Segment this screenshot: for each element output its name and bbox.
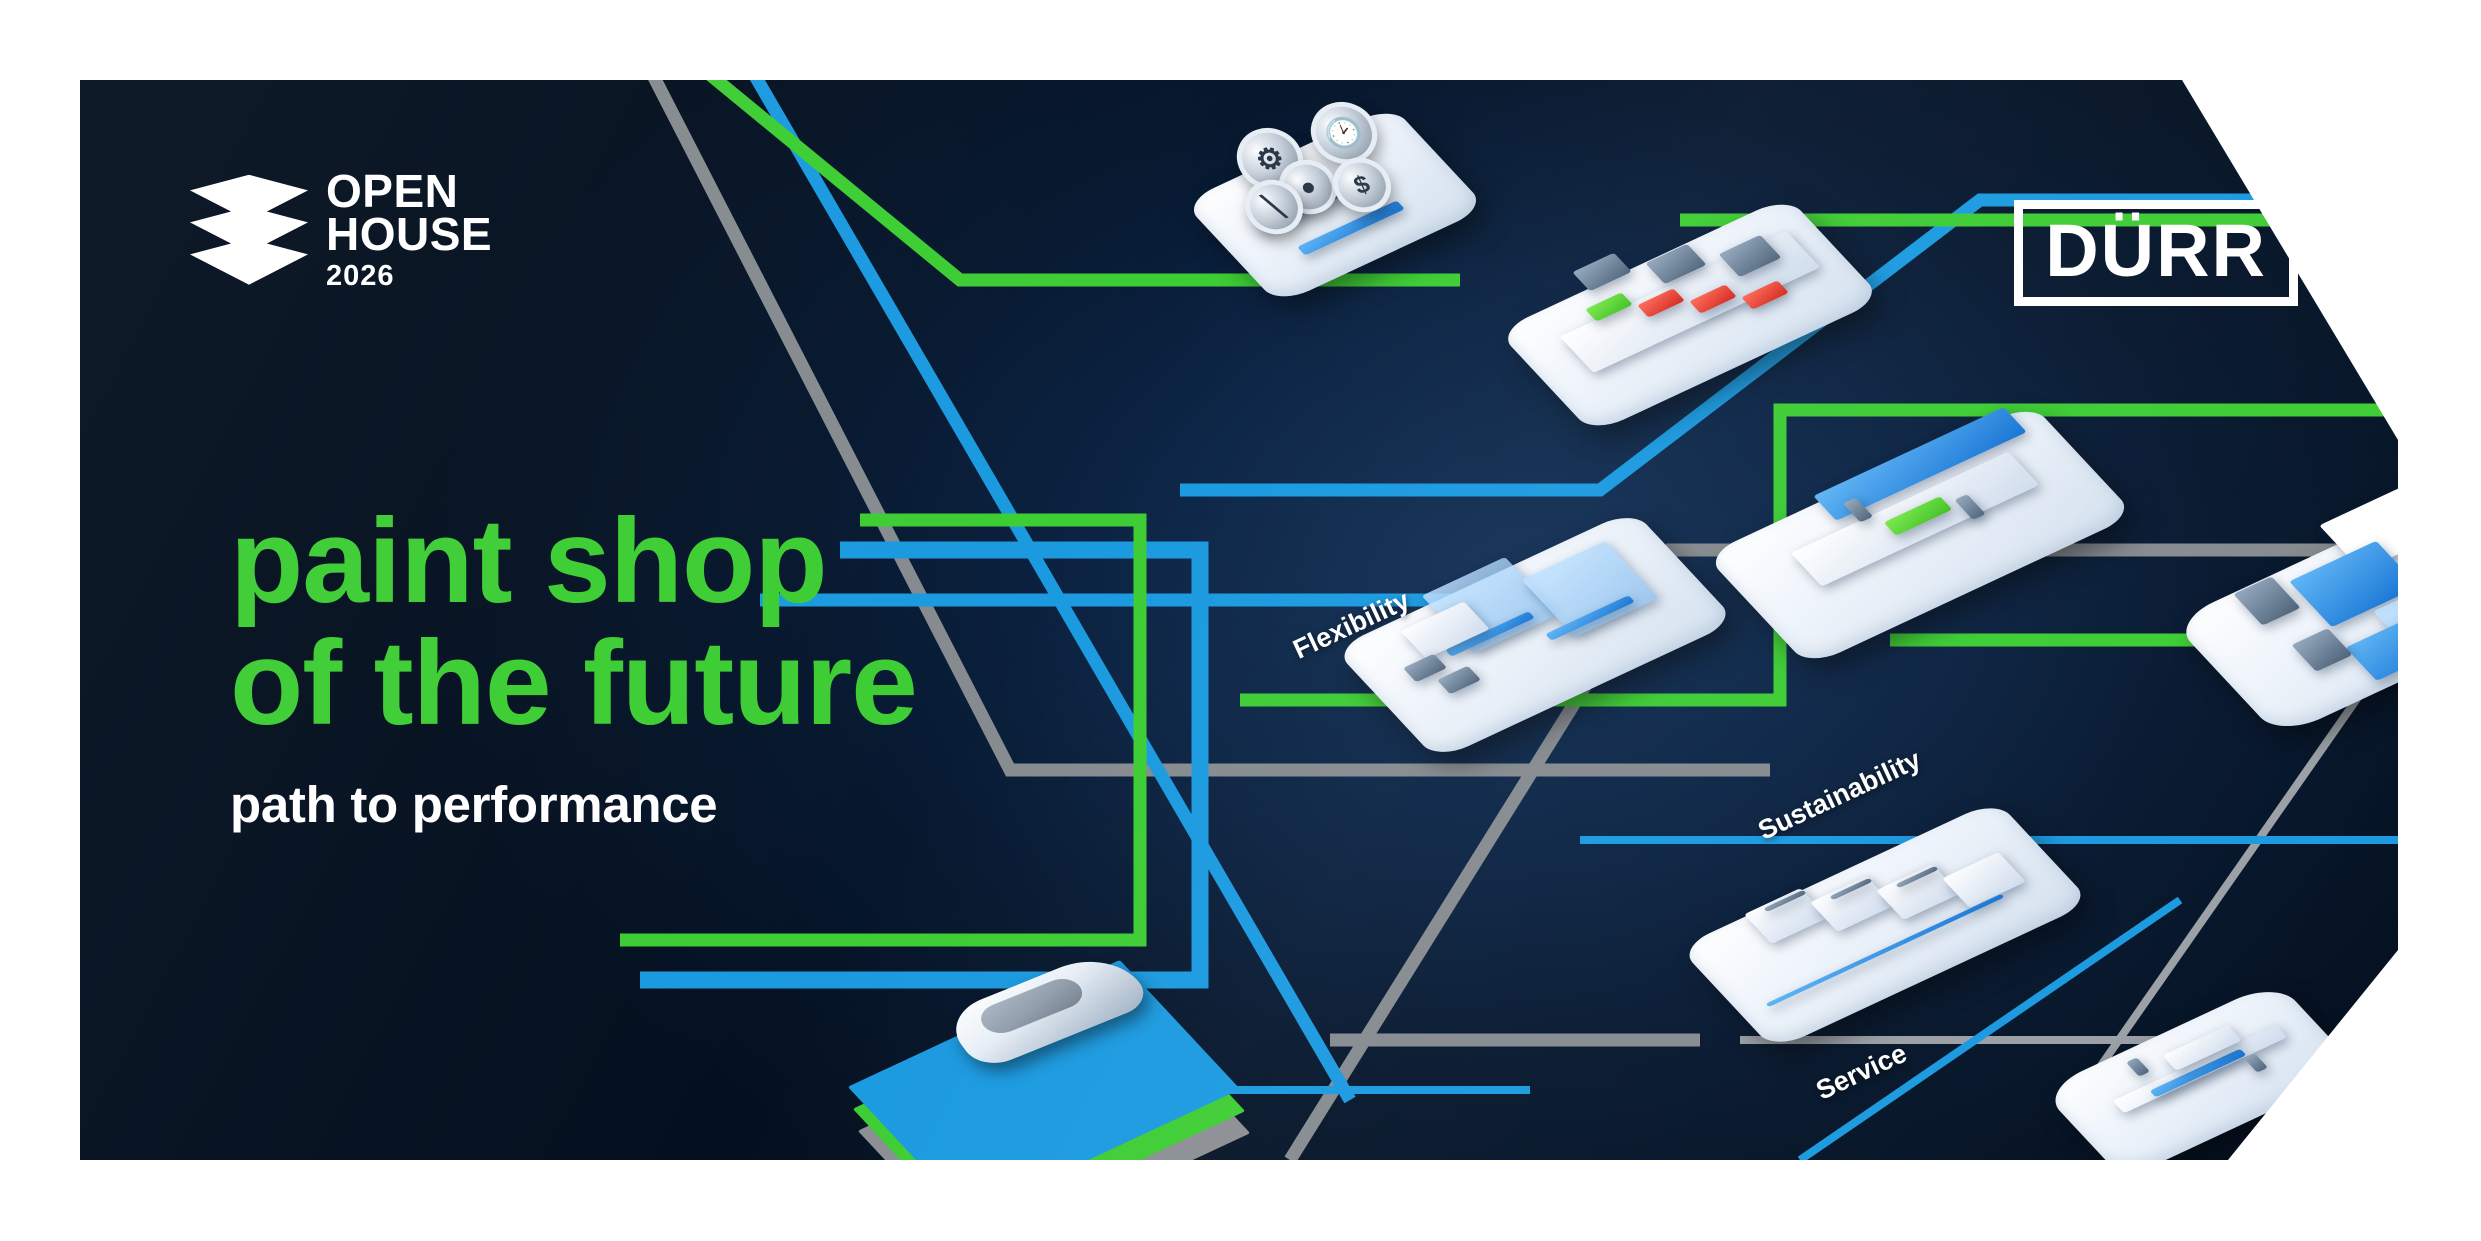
module-gizmo: ⚙ 🕑 ● $ ╲ <box>1250 131 1420 261</box>
headline-subtitle: path to performance <box>230 775 917 834</box>
sustainability-line-module <box>1710 810 2060 1040</box>
open-house-logo: OPEN HOUSE 2026 <box>190 170 492 290</box>
line-cell <box>1810 876 1894 932</box>
pretreatment-module <box>1370 510 1700 760</box>
module-gizmo <box>1785 450 2055 600</box>
line-cell <box>1744 888 1828 944</box>
robot-arm <box>2244 1053 2268 1072</box>
digital-control-module: ⚙ 🕑 ● $ ╲ <box>1220 90 1450 320</box>
headline-line-1: paint shop <box>230 500 917 622</box>
logo-line-house: HOUSE <box>326 213 492 256</box>
inspection-module <box>2210 480 2398 740</box>
oven-stack <box>1572 253 1631 292</box>
paint-oven-module <box>1530 200 1850 430</box>
metal-arc <box>2291 628 2352 672</box>
car-platform-module <box>890 920 1210 1160</box>
logo-line-open: OPEN <box>326 170 492 213</box>
line-cell <box>1942 852 2026 908</box>
line-cell <box>1876 864 1960 920</box>
module-gizmo <box>1420 545 1650 705</box>
hero-panel: ⚙ 🕑 ● $ ╲ <box>80 80 2398 1160</box>
robot-cell-module <box>2070 980 2330 1160</box>
module-gizmo <box>2110 1022 2290 1122</box>
durr-logo: DÜRR <box>2014 200 2298 306</box>
headline-block: paint shop of the future path to perform… <box>230 500 917 834</box>
module-gizmo <box>1565 246 1815 366</box>
paint-booth-module <box>1740 410 2100 660</box>
poster-canvas: ⚙ 🕑 ● $ ╲ <box>0 0 2481 1241</box>
logo-year: 2026 <box>326 263 492 290</box>
open-house-wordmark: OPEN HOUSE 2026 <box>326 170 492 290</box>
durr-wordmark: DÜRR <box>2045 217 2267 285</box>
stacked-layers-icon <box>190 175 308 285</box>
robot-arm <box>2126 1057 2150 1076</box>
module-gizmo <box>2250 510 2398 690</box>
pump-drum <box>1437 666 1481 695</box>
module-gizmo <box>1755 851 2015 981</box>
headline-line-2: of the future <box>230 622 917 744</box>
